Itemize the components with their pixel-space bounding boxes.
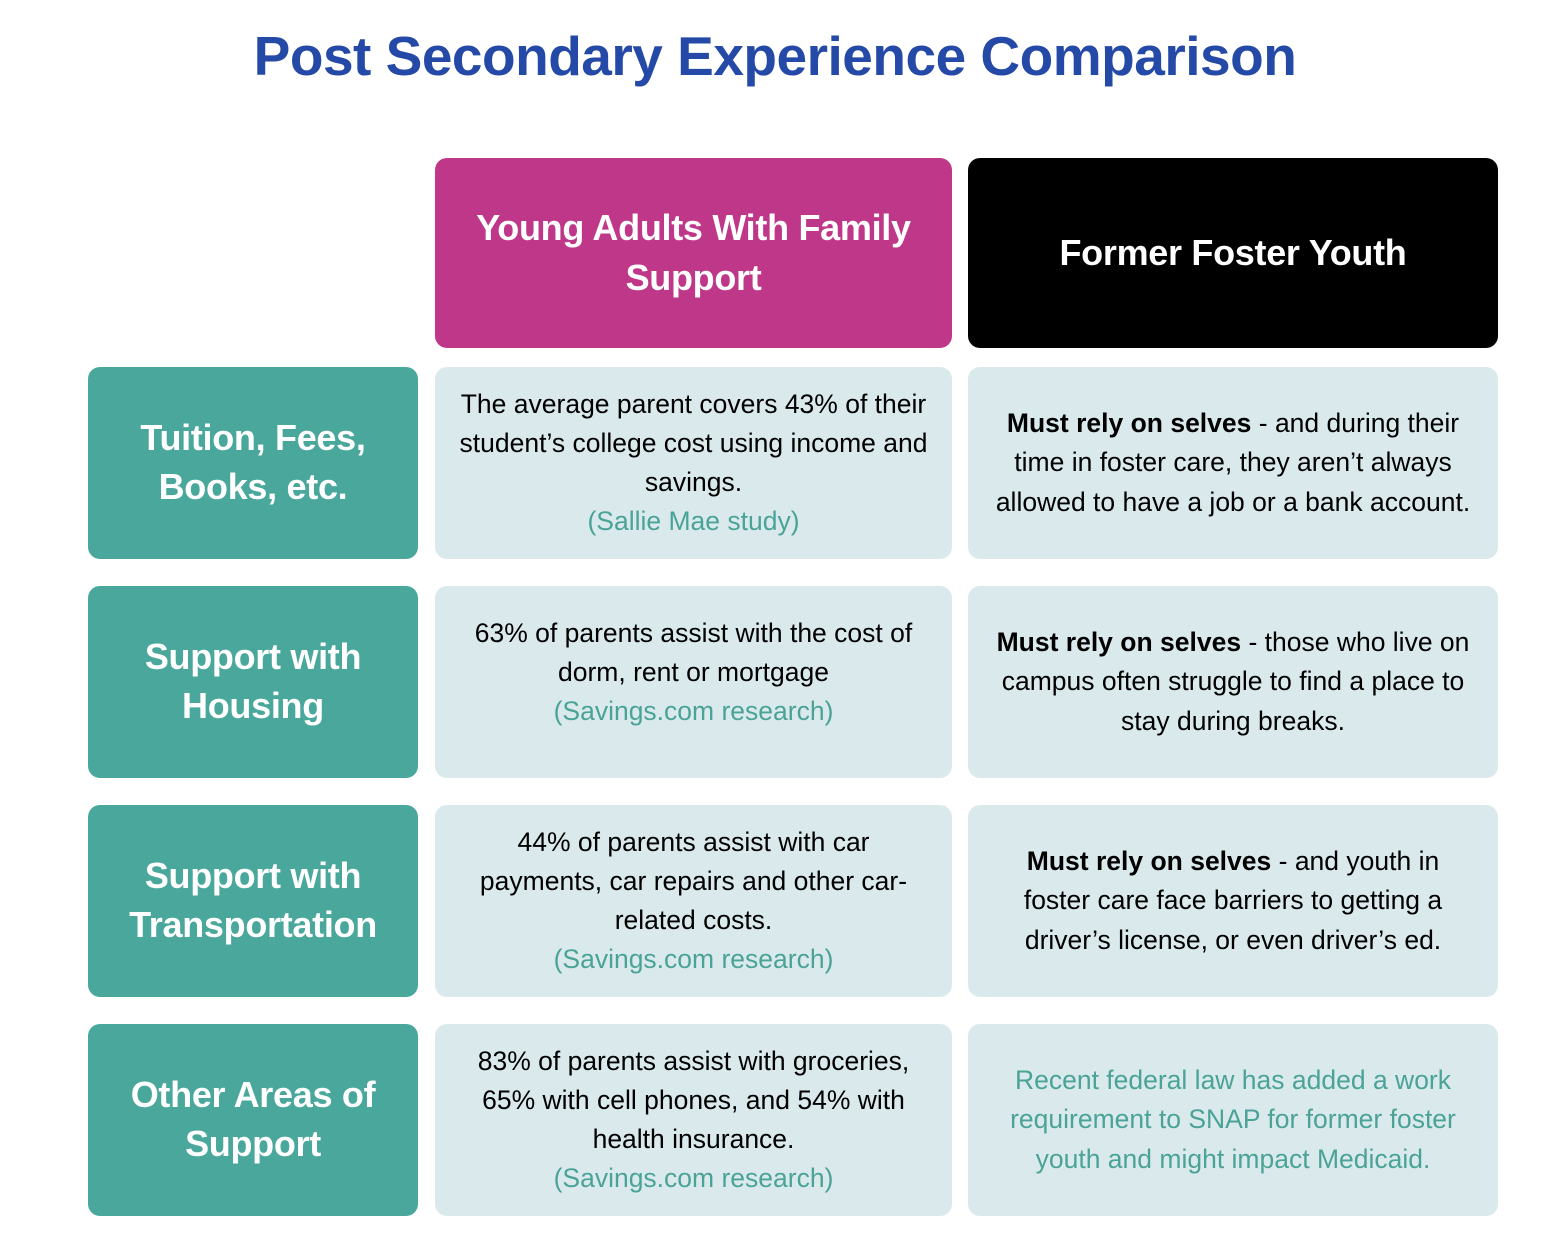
cell-lead-text: Must rely on selves: [997, 627, 1242, 657]
column-gap: [952, 586, 968, 778]
cell-lead-text: Must rely on selves: [1007, 408, 1252, 438]
header-label-spacer: [88, 158, 418, 348]
table-row: Support with Housing 63% of parents assi…: [88, 586, 1498, 778]
row-label-tuition: Tuition, Fees, Books, etc.: [88, 367, 418, 559]
table-row: Other Areas of Support 83% of parents as…: [88, 1024, 1498, 1216]
cell-body-text: Recent federal law has added a work requ…: [1010, 1065, 1456, 1173]
comparison-grid: Young Adults With Family Support Former …: [88, 158, 1498, 1216]
column-gap: [952, 805, 968, 997]
cell-foster-youth-housing: Must rely on selves - those who live on …: [968, 586, 1498, 778]
cell-source-text: (Savings.com research): [457, 1159, 930, 1198]
cell-family-support-other: 83% of parents assist with groceries, 65…: [435, 1024, 952, 1216]
row-label-housing: Support with Housing: [88, 586, 418, 778]
column-gap: [418, 586, 435, 778]
row-gap: [88, 997, 1498, 1024]
cell-source-text: (Savings.com research): [457, 692, 930, 731]
row-gap: [88, 559, 1498, 586]
cell-body-text: 44% of parents assist with car payments,…: [480, 827, 907, 935]
cell-body-text: 63% of parents assist with the cost of d…: [475, 618, 912, 687]
column-header-foster-youth: Former Foster Youth: [968, 158, 1498, 348]
page-title: Post Secondary Experience Comparison: [0, 26, 1550, 88]
row-label-transportation: Support with Transportation: [88, 805, 418, 997]
column-gap: [418, 1024, 435, 1216]
cell-foster-youth-transportation: Must rely on selves - and youth in foste…: [968, 805, 1498, 997]
cell-family-support-tuition: The average parent covers 43% of their s…: [435, 367, 952, 559]
cell-source-text: (Sallie Mae study): [457, 502, 930, 541]
cell-family-support-housing: 63% of parents assist with the cost of d…: [435, 586, 952, 778]
column-gap: [418, 158, 435, 348]
column-gap: [418, 805, 435, 997]
column-gap: [418, 367, 435, 559]
grid-header-row: Young Adults With Family Support Former …: [88, 158, 1498, 348]
cell-foster-youth-tuition: Must rely on selves - and during their t…: [968, 367, 1498, 559]
row-label-other-areas: Other Areas of Support: [88, 1024, 418, 1216]
table-row: Tuition, Fees, Books, etc. The average p…: [88, 367, 1498, 559]
cell-body-text: 83% of parents assist with groceries, 65…: [478, 1046, 910, 1154]
column-gap: [952, 158, 968, 348]
cell-family-support-transportation: 44% of parents assist with car payments,…: [435, 805, 952, 997]
column-gap: [952, 367, 968, 559]
column-gap: [952, 1024, 968, 1216]
cell-foster-youth-other: Recent federal law has added a work requ…: [968, 1024, 1498, 1216]
infographic-page: Post Secondary Experience Comparison You…: [0, 0, 1550, 1234]
table-row: Support with Transportation 44% of paren…: [88, 805, 1498, 997]
column-header-family-support: Young Adults With Family Support: [435, 158, 952, 348]
row-gap: [88, 778, 1498, 805]
cell-lead-text: Must rely on selves: [1027, 846, 1272, 876]
cell-body-text: The average parent covers 43% of their s…: [460, 389, 928, 497]
row-gap: [88, 348, 1498, 367]
cell-source-text: (Savings.com research): [457, 940, 930, 979]
